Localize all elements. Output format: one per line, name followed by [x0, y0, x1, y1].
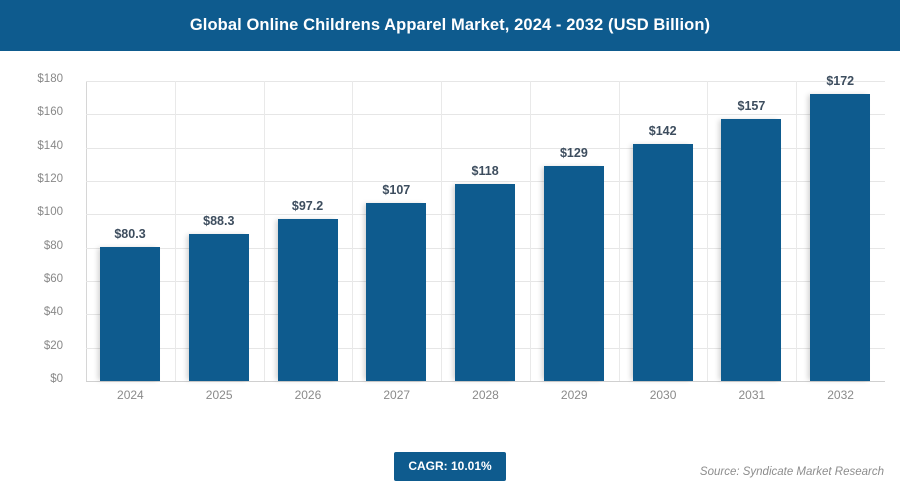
bar[interactable]: [544, 166, 604, 381]
page-title: Global Online Childrens Apparel Market, …: [0, 0, 900, 51]
bar[interactable]: [721, 119, 781, 381]
bar[interactable]: [810, 94, 870, 381]
bar-value-label: $142: [619, 124, 707, 138]
bar[interactable]: [189, 234, 249, 381]
plot-wrapper: $0$20$40$60$80$100$120$140$160$180 $80.3…: [86, 81, 885, 381]
bar-value-label: $107: [352, 183, 440, 197]
bar-column[interactable]: $88.3: [175, 81, 264, 381]
bar-column[interactable]: $157: [707, 81, 796, 381]
bar-value-label: $80.3: [86, 227, 174, 241]
bar-value-label: $157: [707, 99, 795, 113]
bar[interactable]: [278, 219, 338, 381]
bar-column[interactable]: $142: [619, 81, 708, 381]
y-axis-tick-label: $140: [3, 140, 63, 152]
bar[interactable]: [633, 144, 693, 381]
bar-value-label: $129: [530, 146, 618, 160]
x-axis-tick-label: 2028: [441, 388, 530, 402]
bar-column[interactable]: $107: [352, 81, 441, 381]
bar-column[interactable]: $172: [796, 81, 885, 381]
chart-page: Global Online Childrens Apparel Market, …: [0, 0, 900, 500]
y-axis-tick-label: $80: [3, 240, 63, 252]
cagr-badge: CAGR: 10.01%: [394, 452, 506, 481]
bar-value-label: $88.3: [175, 214, 263, 228]
bar[interactable]: [455, 184, 515, 381]
bar-column[interactable]: $97.2: [264, 81, 353, 381]
x-axis-tick-label: 2026: [264, 388, 353, 402]
y-axis-tick-label: $180: [3, 73, 63, 85]
bar-value-label: $118: [441, 164, 529, 178]
bar-value-label: $97.2: [264, 199, 352, 213]
y-axis-tick-label: $40: [3, 306, 63, 318]
y-axis-tick-label: $120: [3, 173, 63, 185]
source-note: Source: Syndicate Market Research: [700, 466, 884, 478]
y-axis-tick-label: $60: [3, 273, 63, 285]
bar-column[interactable]: $80.3: [86, 81, 175, 381]
y-axis-tick-label: $20: [3, 340, 63, 352]
chart-header-band: Global Online Childrens Apparel Market, …: [0, 0, 900, 51]
bar-value-label: $172: [796, 74, 884, 88]
bar-column[interactable]: $129: [530, 81, 619, 381]
x-axis-tick-label: 2032: [796, 388, 885, 402]
y-axis-tick-label: $0: [3, 373, 63, 385]
y-axis-tick-label: $100: [3, 206, 63, 218]
bar-column[interactable]: $118: [441, 81, 530, 381]
bar[interactable]: [366, 203, 426, 381]
bar[interactable]: [100, 247, 160, 381]
x-axis-tick-label: 2024: [86, 388, 175, 402]
x-axis-tick-label: 2031: [707, 388, 796, 402]
y-axis-tick-label: $160: [3, 106, 63, 118]
x-axis-tick-label: 2025: [175, 388, 264, 402]
x-axis-tick-label: 2030: [619, 388, 708, 402]
gridline: [86, 381, 885, 382]
x-axis-tick-label: 2027: [352, 388, 441, 402]
x-axis-tick-label: 2029: [530, 388, 619, 402]
